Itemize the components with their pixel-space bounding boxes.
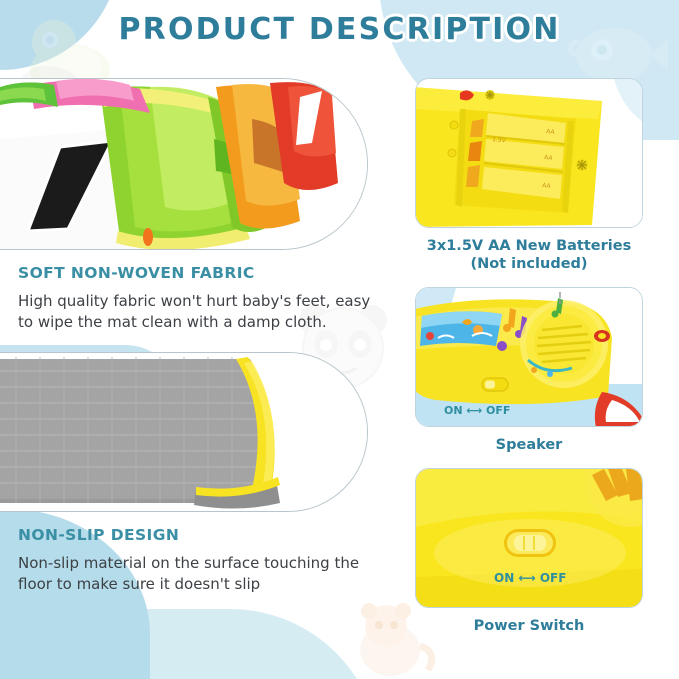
battery-label-line1: 3x1.5V AA New Batteries <box>427 238 631 254</box>
battery-card-label: 3x1.5V AA New Batteries (Not included) <box>415 237 643 273</box>
battery-compartment-photo: AA AA AA 1.5V <box>415 78 643 228</box>
non-slip-heading: NON-SLIP DESIGN <box>18 526 382 544</box>
right-column: AA AA AA 1.5V <box>415 78 665 636</box>
non-slip-text-block: NON-SLIP DESIGN Non-slip material on the… <box>0 512 400 596</box>
power-onoff-label: ON ⟷ OFF <box>494 571 566 585</box>
content-area: SOFT NON-WOVEN FABRIC High quality fabri… <box>0 0 679 679</box>
non-slip-body: Non-slip material on the surface touchin… <box>18 553 382 596</box>
non-slip-underside-photo <box>0 352 368 512</box>
svg-text:AA: AA <box>544 154 554 162</box>
power-label-line1: Power Switch <box>474 618 585 634</box>
battery-label-line2: (Not included) <box>415 255 643 273</box>
soft-fabric-body: High quality fabric won't hurt baby's fe… <box>18 291 382 334</box>
speaker-card-label: Speaker <box>415 436 643 454</box>
soft-fabric-heading: SOFT NON-WOVEN FABRIC <box>18 264 382 282</box>
speaker-label-line1: Speaker <box>496 437 563 453</box>
svg-text:AA: AA <box>546 128 556 136</box>
power-switch-card-label: Power Switch <box>415 617 643 635</box>
speaker-panel-photo: ON ⟷ OFF <box>415 287 643 427</box>
soft-fabric-text-block: SOFT NON-WOVEN FABRIC High quality fabri… <box>0 250 400 334</box>
left-column: SOFT NON-WOVEN FABRIC High quality fabri… <box>0 78 400 595</box>
svg-text:AA: AA <box>542 182 552 190</box>
rolled-play-mat-photo <box>0 78 368 250</box>
page-title-container: PRODUCT DESCRIPTION <box>0 12 679 47</box>
page-title: PRODUCT DESCRIPTION <box>118 12 560 47</box>
speaker-onoff-label: ON ⟷ OFF <box>444 404 510 417</box>
power-switch-photo: ON ⟷ OFF <box>415 468 643 608</box>
